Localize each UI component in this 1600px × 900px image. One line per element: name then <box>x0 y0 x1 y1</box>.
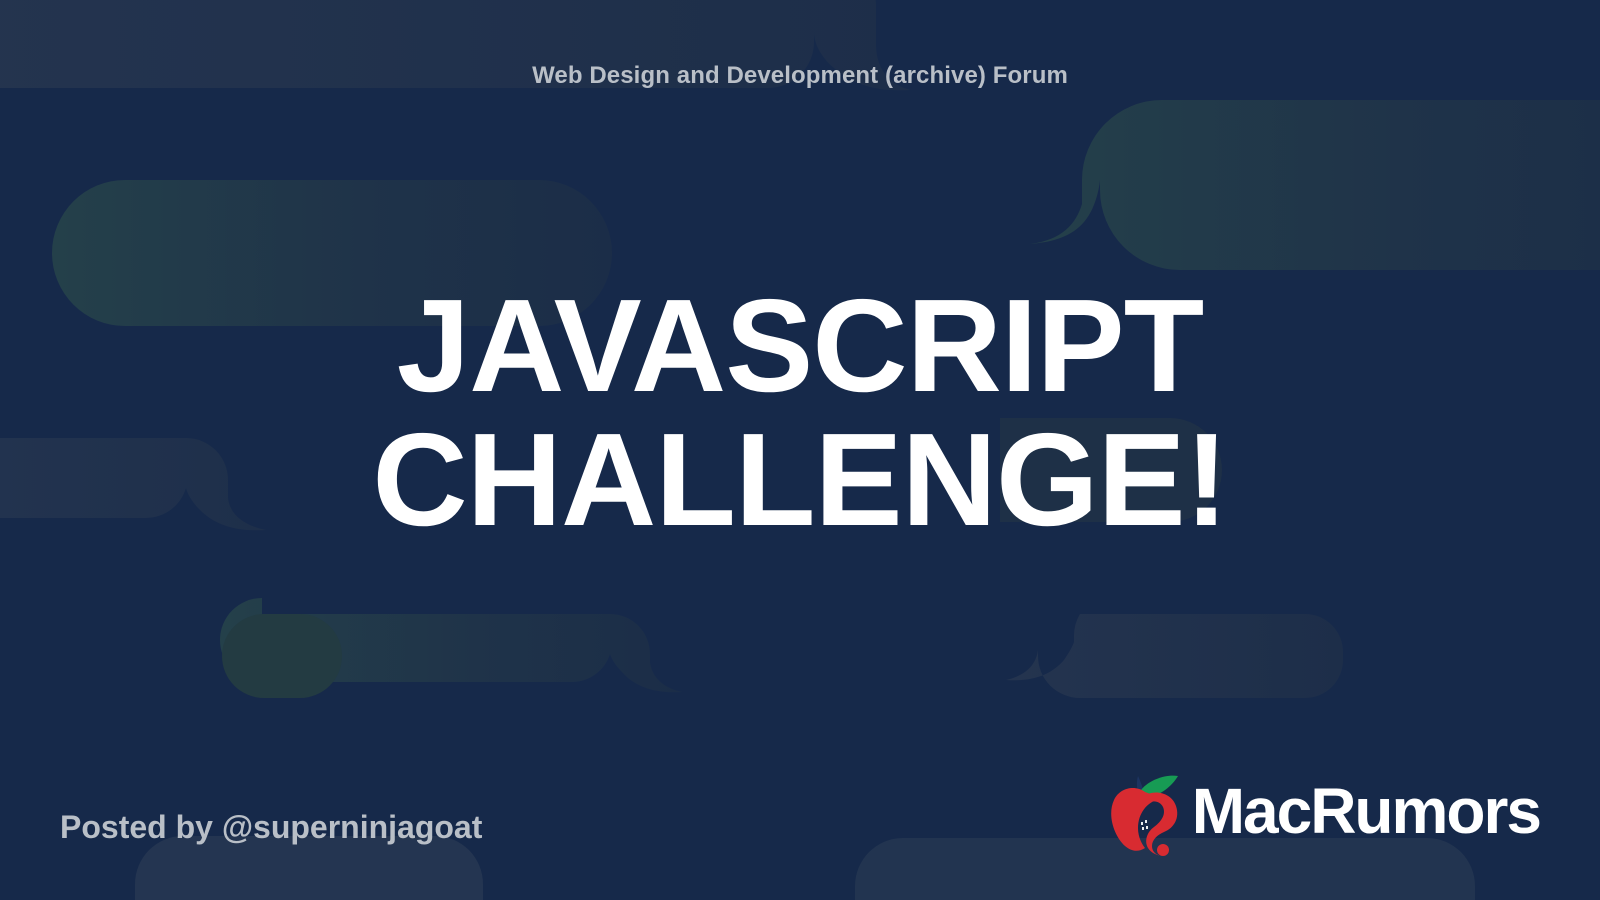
macrumors-wordmark: MacRumors <box>1192 779 1540 847</box>
macrumors-apple-icon <box>1108 770 1186 856</box>
post-author-byline: Posted by @superninjagoat <box>60 809 482 856</box>
forum-name: Web Design and Development (archive) For… <box>60 62 1540 91</box>
post-title-wrap: JAVASCRIPT CHALLENGE! <box>60 91 1540 770</box>
macrumors-logo: MacRumors <box>1108 770 1540 856</box>
card-content: Web Design and Development (archive) For… <box>0 0 1600 900</box>
social-share-card: Web Design and Development (archive) For… <box>0 0 1600 900</box>
card-footer: Posted by @superninjagoat <box>60 770 1540 856</box>
post-title: JAVASCRIPT CHALLENGE! <box>250 279 1350 548</box>
